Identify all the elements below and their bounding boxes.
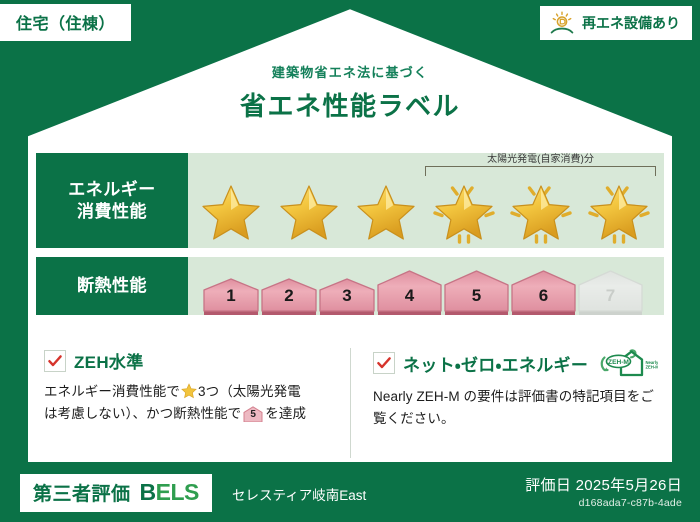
zeh-m-logo-icon: ZEH-M Nearly ZEH-M: [600, 348, 658, 378]
nze-checkbox: [373, 352, 395, 374]
insulation-grade-4: 4: [376, 269, 443, 315]
inline-grade-badge: 5: [243, 406, 263, 422]
check-icon: [376, 355, 392, 371]
performance-rows: エネルギー 消費性能 太陽光発電(自家消費)分 断熱性能 1234567: [36, 153, 664, 324]
zeh-desc-part1: エネルギー消費性能で: [44, 384, 180, 399]
label-title-block: 建築物省エネ法に基づく 省エネ性能ラベル: [0, 62, 700, 123]
insulation-grade-6: 6: [510, 269, 577, 315]
zeh-checkbox: [44, 350, 66, 372]
zeh-desc-star-count: 3つ（太陽光発電: [198, 384, 301, 399]
insulation-grade-2: 2: [260, 277, 318, 315]
footer-right-info: 評価日 2025年5月26日 d168ada7-c87b-4ade: [525, 474, 682, 509]
insulation-grade-3: 3: [318, 277, 376, 315]
nze-column-description: Nearly ZEH-M の要件は評価書の特記項目をご覧ください。: [373, 386, 658, 430]
zeh-desc-part2: は考慮しない）、かつ断熱性能で: [44, 406, 241, 421]
insulation-performance-row: 断熱性能 1234567: [36, 257, 664, 315]
insulation-grade-5: 5: [443, 269, 510, 315]
base-star: [349, 176, 423, 246]
category-chip: 住宅（住棟）: [0, 4, 131, 41]
bels-letter-b: B: [140, 479, 156, 505]
energy-performance-label: 住宅（住棟） 再エネ設備あり 建築物省エネ法に基づく 省エネ性能ラベル エネルギ…: [0, 0, 700, 522]
zeh-desc-part3: を達成: [265, 406, 306, 421]
solar-star: [582, 176, 656, 246]
criteria-columns: ZEH水準 エネルギー消費性能で 3つ（太陽光発電 は考慮しない）、かつ断熱性能…: [28, 348, 672, 458]
renewable-badge-label: 再エネ設備あり: [582, 13, 680, 33]
title-main: 省エネ性能ラベル: [0, 86, 700, 123]
insulation-grade-number: 6: [539, 286, 548, 315]
solar-star: [427, 176, 501, 246]
evaluation-date: 評価日 2025年5月26日: [525, 474, 682, 495]
inline-star-icon: [181, 383, 197, 399]
nze-column-title: ネット・ゼロ・エネルギー: [403, 351, 588, 376]
base-star: [272, 176, 346, 246]
title-subtitle: 建築物省エネ法に基づく: [0, 62, 700, 81]
insulation-grade-number: 2: [284, 286, 293, 315]
bels-badge: 第三者評価 BELS: [20, 474, 212, 512]
insulation-grade-number: 5: [472, 286, 481, 315]
category-chip-label: 住宅（住棟）: [16, 16, 115, 33]
insulation-row-header: 断熱性能: [36, 257, 188, 315]
solar-bracket-annotation: 太陽光発電(自家消費)分: [425, 154, 656, 176]
solar-bracket-label: 太陽光発電(自家消費)分: [425, 154, 656, 165]
svg-text:ZEH-M: ZEH-M: [646, 365, 659, 370]
zeh-column-title: ZEH水準: [74, 348, 144, 373]
zeh-column-description: エネルギー消費性能で 3つ（太陽光発電 は考慮しない）、かつ断熱性能で 5 を達…: [44, 381, 336, 425]
insulation-grade-number: 1: [226, 286, 235, 315]
energy-header-line2: 消費性能: [77, 201, 147, 223]
building-name: セレスティア岐南East: [232, 484, 366, 504]
energy-row-header: エネルギー 消費性能: [36, 153, 188, 248]
insulation-row-body: 1234567: [188, 257, 664, 315]
inline-grade-number: 5: [243, 406, 263, 422]
energy-star-rating: [194, 175, 656, 246]
bels-letters-els: ELS: [156, 479, 199, 505]
energy-header-line1: エネルギー: [68, 179, 156, 201]
insulation-header-label: 断熱性能: [77, 275, 147, 297]
insulation-grade-number: 7: [606, 286, 615, 315]
renewable-energy-badge: 再エネ設備あり: [540, 6, 692, 40]
zeh-standard-column: ZEH水準 エネルギー消費性能で 3つ（太陽光発電 は考慮しない）、かつ断熱性能…: [28, 348, 350, 458]
insulation-grade-scale: 1234567: [202, 257, 652, 315]
insulation-grade-number: 3: [342, 286, 351, 315]
solar-star: [504, 176, 578, 246]
solar-sun-icon: [549, 11, 575, 35]
energy-row-body: 太陽光発電(自家消費)分: [188, 153, 664, 248]
insulation-grade-7: 7: [577, 269, 644, 315]
check-icon: [47, 353, 63, 369]
zeh-column-header: ZEH水準: [44, 348, 336, 373]
label-uid: d168ada7-c87b-4ade: [525, 497, 682, 509]
label-footer: 第三者評価 BELS セレスティア岐南East 評価日 2025年5月26日 d…: [0, 462, 700, 522]
third-party-label: 第三者評価: [33, 479, 131, 506]
nze-column-header: ネット・ゼロ・エネルギー ZEH-M Nearly ZEH-M: [373, 348, 658, 378]
insulation-grade-1: 1: [202, 277, 260, 315]
base-star: [194, 176, 268, 246]
svg-text:ZEH-M: ZEH-M: [608, 359, 629, 366]
energy-consumption-row: エネルギー 消費性能 太陽光発電(自家消費)分: [36, 153, 664, 248]
insulation-grade-number: 4: [405, 286, 414, 315]
net-zero-energy-column: ネット・ゼロ・エネルギー ZEH-M Nearly ZEH-M Nearly Z…: [350, 348, 672, 458]
